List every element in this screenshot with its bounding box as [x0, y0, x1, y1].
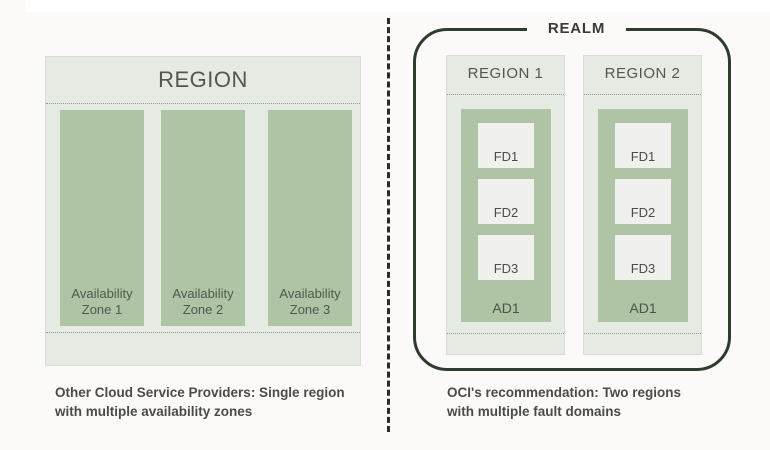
- region-2-fd2-label: FD2: [615, 205, 671, 221]
- region-1-fd3-label: FD3: [478, 261, 534, 277]
- region-1-fd3: FD3: [478, 235, 534, 280]
- region-1-fd2-label: FD2: [478, 205, 534, 221]
- region-2-fd3-label: FD3: [615, 261, 671, 277]
- right-caption: OCI's recommendation: Two regions with m…: [447, 383, 747, 421]
- region-2-fd2: FD2: [615, 179, 671, 224]
- region-1-ad1: FD1 FD2 FD3 AD1: [461, 109, 551, 322]
- left-caption-line2: with multiple availability zones: [55, 402, 375, 421]
- region-1-fd1-label: FD1: [478, 149, 534, 165]
- right-caption-line2: with multiple fault domains: [447, 402, 747, 421]
- region-panel-bottom-rule: [46, 332, 360, 333]
- region-2-ad1: FD1 FD2 FD3 AD1: [598, 109, 688, 322]
- region-2-title: REGION 2: [584, 65, 701, 82]
- availability-zone-1-label: Availability Zone 1: [60, 286, 144, 318]
- region-2-panel: REGION 2 FD1 FD2 FD3 AD1: [583, 55, 702, 355]
- region-2-top-rule: [584, 94, 701, 95]
- region-2-fd1: FD1: [615, 123, 671, 168]
- region-1-fd2: FD2: [478, 179, 534, 224]
- top-white-band: [25, 0, 770, 12]
- right-caption-line1: OCI's recommendation: Two regions: [447, 383, 747, 402]
- region-1-panel: REGION 1 FD1 FD2 FD3 AD1: [446, 55, 565, 355]
- realm-label: REALM: [548, 20, 605, 37]
- region-1-title: REGION 1: [447, 65, 564, 82]
- availability-zone-3: Availability Zone 3: [268, 110, 352, 326]
- region-2-fd1-label: FD1: [615, 149, 671, 165]
- az3-line2: Zone 3: [268, 302, 352, 318]
- region-1-top-rule: [447, 94, 564, 95]
- availability-zone-2-label: Availability Zone 2: [161, 286, 245, 318]
- vertical-dashed-divider: [387, 18, 390, 432]
- az1-line1: Availability: [60, 286, 144, 302]
- region-2-ad1-label: AD1: [598, 300, 688, 317]
- availability-zone-3-label: Availability Zone 3: [268, 286, 352, 318]
- diagram-canvas: REGION Availability Zone 1 Availability …: [0, 0, 770, 450]
- region-2-fd3: FD3: [615, 235, 671, 280]
- az1-line2: Zone 1: [60, 302, 144, 318]
- availability-zone-2: Availability Zone 2: [161, 110, 245, 326]
- left-caption-line1: Other Cloud Service Providers: Single re…: [55, 383, 375, 402]
- region-panel-title: REGION: [46, 67, 360, 93]
- region-1-bottom-rule: [447, 333, 564, 334]
- region-panel-top-rule: [46, 103, 360, 104]
- region-2-bottom-rule: [584, 333, 701, 334]
- region-panel: REGION Availability Zone 1 Availability …: [45, 56, 361, 366]
- region-1-ad1-label: AD1: [461, 300, 551, 317]
- availability-zone-1: Availability Zone 1: [60, 110, 144, 326]
- region-1-fd1: FD1: [478, 123, 534, 168]
- az2-line1: Availability: [161, 286, 245, 302]
- realm-label-box: REALM: [527, 12, 626, 45]
- left-caption: Other Cloud Service Providers: Single re…: [55, 383, 375, 421]
- az3-line1: Availability: [268, 286, 352, 302]
- az2-line2: Zone 2: [161, 302, 245, 318]
